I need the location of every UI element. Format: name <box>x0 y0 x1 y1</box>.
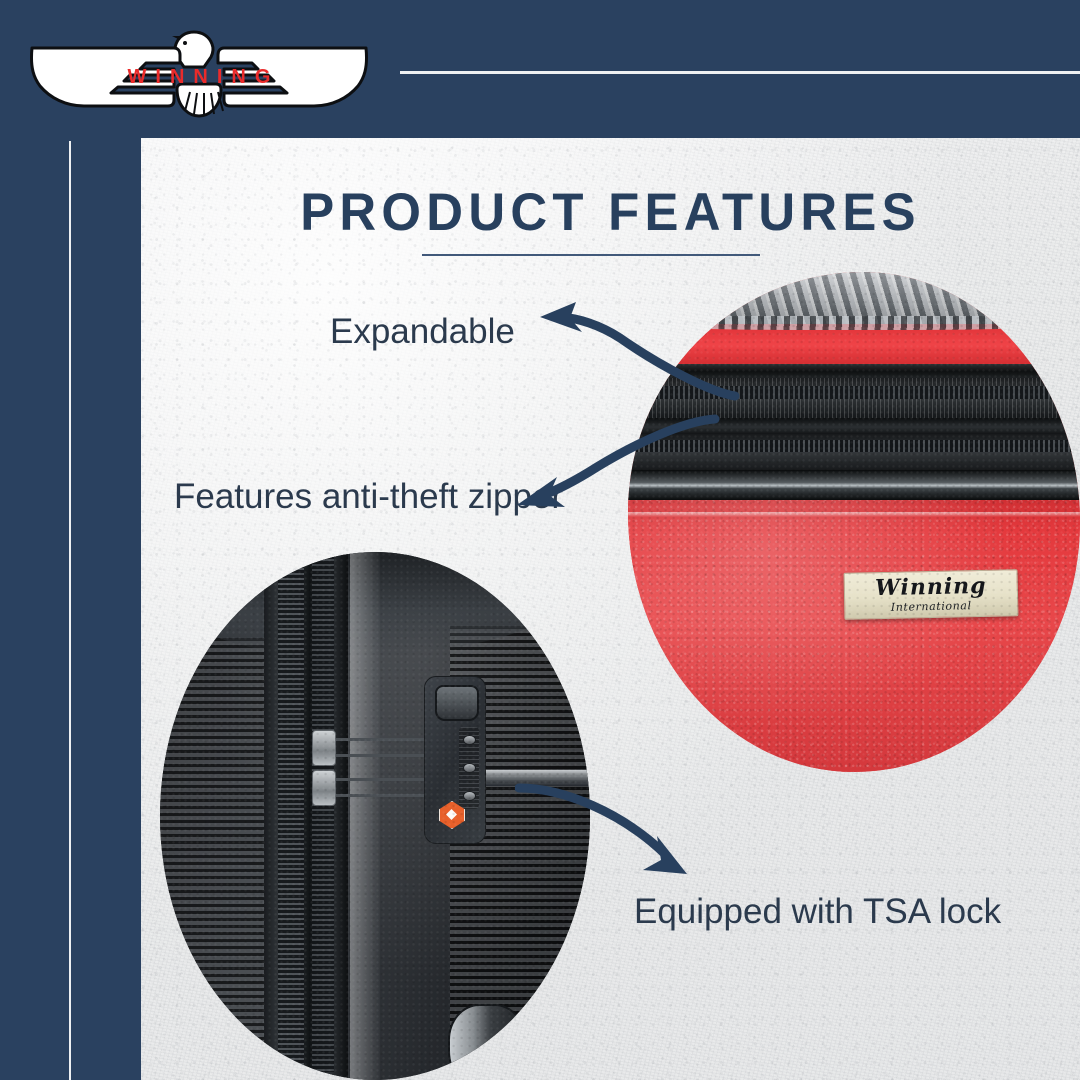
zipper-teeth-inner <box>312 554 334 1072</box>
zipper-pull-lower <box>312 770 336 806</box>
zipper-rail-bottom <box>628 470 1080 500</box>
red-shell-texture <box>628 498 1080 772</box>
eagle-wings-logo-icon <box>24 22 374 124</box>
zipper-band-upper <box>628 378 1080 418</box>
zipper-pull-upper <box>312 730 336 766</box>
tsa-lock-body <box>424 676 486 844</box>
feature-label-anti-theft-zipper: Features anti-theft zipper <box>174 477 563 517</box>
tsa-dial-1 <box>463 735 476 745</box>
feature-label-expandable: Expandable <box>330 312 515 352</box>
title-underline <box>422 254 760 256</box>
winning-international-badge: Winning International <box>844 569 1019 620</box>
horizontal-accent-rule <box>400 71 1080 74</box>
page-title: PRODUCT FEATURES <box>160 182 1061 243</box>
product-features-poster: WINNING PRODUCT FEATURES Winning Interna… <box>0 0 1080 1080</box>
tsa-dial-3 <box>463 791 476 801</box>
suitcase-wheel <box>448 1004 526 1080</box>
shell-gloss-highlight <box>350 552 380 1080</box>
black-suitcase-tsa-lock-photo <box>160 552 590 1080</box>
red-shell-lower <box>628 498 1080 772</box>
brand-logo: WINNING <box>24 22 374 124</box>
plastic-wrap <box>628 272 1080 324</box>
badge-brand-text: Winning <box>875 575 987 599</box>
vertical-accent-rule <box>69 141 71 1080</box>
tsa-lock-button <box>435 685 479 721</box>
zipper-band-lower <box>628 434 1080 472</box>
feature-label-tsa-lock: Equipped with TSA lock <box>634 892 1001 932</box>
ribbed-panel-left <box>160 638 270 1054</box>
badge-sub-text: International <box>891 599 972 614</box>
red-suitcase-zipper-photo: Winning International <box>628 272 1080 772</box>
zipper-column <box>264 552 348 1080</box>
zipper-teeth-outer <box>278 558 304 1076</box>
tsa-dial-2 <box>463 763 476 773</box>
